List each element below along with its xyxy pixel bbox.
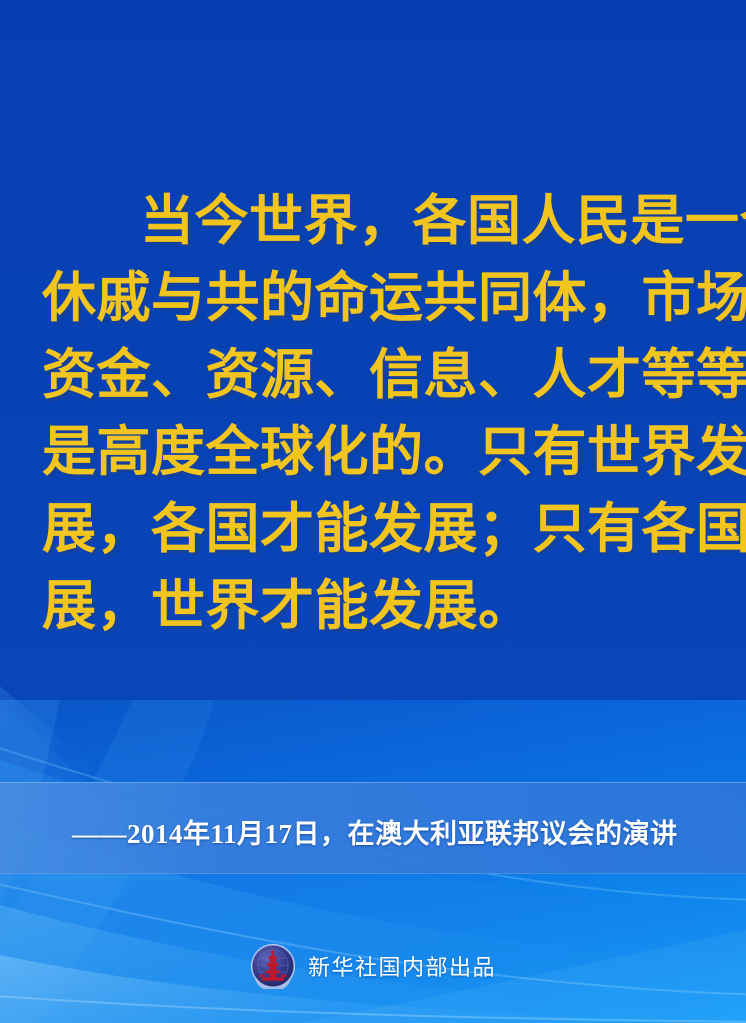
quote-line-4: 是高度全球化的。只有世界发	[42, 414, 706, 491]
quote-text: 当今世界，各国人民是一个 休戚与共的命运共同体，市场、 资金、资源、信息、人才等…	[42, 183, 706, 645]
xinhua-agency-logo-icon: XINHUA	[250, 943, 296, 989]
quote-line-2: 休戚与共的命运共同体，市场、	[42, 260, 706, 337]
footer-text: 新华社国内部出品	[308, 950, 496, 982]
quote-line-6: 展，世界才能发展。	[42, 568, 706, 645]
footer: XINHUA 新华社国内部出品	[0, 938, 746, 994]
attribution-band-bottom-divider	[0, 873, 746, 874]
svg-text:XINHUA: XINHUA	[264, 980, 283, 985]
quote-line-5: 展，各国才能发展；只有各国发	[42, 491, 706, 568]
quote-line-1: 当今世界，各国人民是一个	[42, 183, 706, 260]
attribution-band-top-divider	[0, 782, 746, 783]
quote-line-3: 资金、资源、信息、人才等等都	[42, 337, 706, 414]
attribution-text: ——2014年11月17日，在澳大利亚联邦议会的演讲	[72, 812, 712, 851]
quote-card: 当今世界，各国人民是一个 休戚与共的命运共同体，市场、 资金、资源、信息、人才等…	[0, 0, 746, 1023]
